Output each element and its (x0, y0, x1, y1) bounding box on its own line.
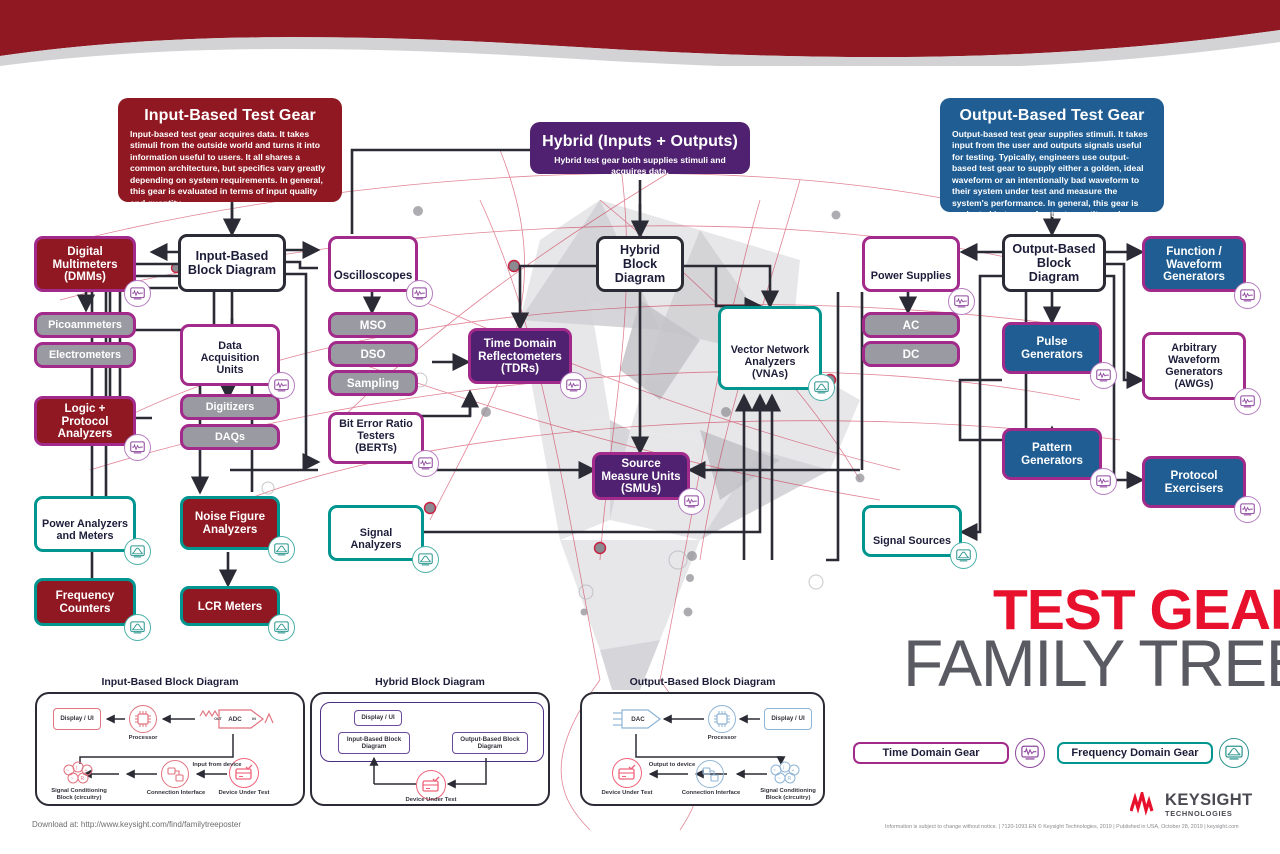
node-picoammeters[interactable]: Picoammeters (34, 312, 136, 338)
time-domain-badge (124, 280, 151, 307)
frequency-domain-badge (124, 614, 151, 641)
logo-line1: KEYSIGHT (1165, 792, 1253, 809)
panel-output-title: Output-Based Block Diagram (580, 676, 825, 688)
time-domain-icon (1015, 738, 1045, 768)
frequency-domain-badge (808, 374, 835, 401)
frequency-domain-badge (124, 538, 151, 565)
svg-text:R: R (788, 776, 792, 782)
panel-input-adc-out: OUT (213, 717, 223, 721)
panel-output-signal-conditioning-label: Signal Conditioning Block (circuitry) (752, 788, 824, 803)
time-domain-badge (560, 372, 587, 399)
panel-hybrid-dut-label: Device Under Test (402, 797, 460, 804)
node-power-analyzers-and-meters[interactable]: Power Analyzers and Meters (34, 496, 136, 552)
node-berts[interactable]: Bit Error Ratio Testers (BERTs) (328, 412, 424, 464)
svg-text:~: ~ (778, 776, 781, 782)
node-function-waveform-generators[interactable]: Function / Waveform Generators (1142, 236, 1246, 292)
time-domain-badge (1234, 282, 1261, 309)
frequency-domain-badge (268, 536, 295, 563)
poster-title-line2: FAMILY TREE (903, 630, 1280, 696)
panel-output-connection-label: Connection Interface (680, 790, 742, 797)
time-domain-badge (678, 488, 705, 515)
time-domain-badge (1234, 496, 1261, 523)
panel-input-connection-icon (161, 760, 189, 788)
panel-input-connection-label: Connection Interface (145, 790, 207, 797)
node-pulse-generators[interactable]: Pulse Generators (1002, 322, 1102, 374)
svg-text:~: ~ (71, 776, 74, 782)
poster-canvas: Input-Based Test Gear Input-based test g… (0, 0, 1280, 854)
node-vnas[interactable]: Vector Network Analyzers (VNAs) (718, 306, 822, 390)
time-domain-badge (948, 288, 975, 315)
node-protocol-exercisers[interactable]: Protocol Exercisers (1142, 456, 1246, 508)
node-electrometers[interactable]: Electrometers (34, 342, 136, 368)
node-dc[interactable]: DC (862, 341, 960, 367)
intro-output-body: Output-based test gear supplies stimuli.… (952, 129, 1152, 232)
node-frequency-counters[interactable]: Frequency Counters (34, 578, 136, 626)
panel-input-dut-label: Device Under Test (215, 790, 273, 797)
time-domain-badge (1090, 468, 1117, 495)
node-smus[interactable]: Source Measure Units (SMUs) (592, 452, 690, 500)
svg-text:+: + (85, 768, 88, 774)
svg-text:I: I (76, 766, 77, 772)
panel-output-dut-icon (612, 758, 642, 788)
panel-input-adc-label: ADC (222, 716, 248, 724)
node-data-acquisition-units[interactable]: Data Acquisition Units (180, 324, 280, 386)
node-output-based-block-diagram[interactable]: Output-Based Block Diagram (1002, 234, 1106, 292)
node-signal-sources[interactable]: Signal Sources (862, 505, 962, 557)
node-digitizers[interactable]: Digitizers (180, 394, 280, 420)
node-hybrid-block-diagram[interactable]: Hybrid Block Diagram (596, 236, 684, 292)
logo-line2: TECHNOLOGIES (1165, 810, 1253, 817)
time-domain-badge (412, 450, 439, 477)
panel-hybrid-dut-icon (416, 770, 446, 800)
time-domain-badge (1234, 388, 1261, 415)
frequency-domain-icon (1219, 738, 1249, 768)
svg-text:+: + (792, 768, 795, 774)
intro-hybrid-title: Hybrid (Inputs + Outputs) (542, 133, 738, 151)
intro-input-body: Input-based test gear acquires data. It … (130, 129, 330, 209)
panel-output-signal-conditioning-icon: ~I+ ~R (768, 760, 802, 788)
intro-hybrid-body: Hybrid test gear both supplies stimuli a… (542, 155, 738, 178)
node-pattern-generators[interactable]: Pattern Generators (1002, 428, 1102, 480)
panel-output-based-block-diagram: Display / UI Processor DAC Connection In… (580, 692, 825, 806)
panel-input-based-block-diagram: Display / UI Processor (35, 692, 305, 806)
panel-input-title: Input-Based Block Diagram (35, 676, 305, 688)
keysight-mark (1130, 792, 1160, 816)
svg-text:I: I (783, 766, 784, 772)
node-ac[interactable]: AC (862, 312, 960, 338)
node-sampling[interactable]: Sampling (328, 370, 418, 396)
intro-hybrid: Hybrid (Inputs + Outputs) Hybrid test ge… (530, 122, 750, 174)
time-domain-badge (124, 434, 151, 461)
panel-hybrid-block-diagram: Display / UI Input-Based Block Diagram O… (310, 692, 550, 806)
panel-input-signal-conditioning-label: Signal Conditioning Block (circuitry) (43, 788, 115, 803)
frequency-domain-badge (412, 546, 439, 573)
node-noise-figure-analyzers[interactable]: Noise Figure Analyzers (180, 496, 280, 550)
keysight-logo: KEYSIGHT TECHNOLOGIES (1130, 792, 1253, 817)
legend-time-label: Time Domain Gear (883, 747, 980, 759)
legal-notice: Information is subject to change without… (885, 824, 1239, 830)
node-mso[interactable]: MSO (328, 312, 418, 338)
panel-input-flow-label: Input from device (189, 762, 245, 769)
node-daqs[interactable]: DAQs (180, 424, 280, 450)
intro-output-title: Output-Based Test Gear (952, 107, 1152, 125)
panel-output-dut-label: Device Under Test (598, 790, 656, 797)
node-signal-analyzers[interactable]: Signal Analyzers (328, 505, 424, 561)
keysight-wordmark: KEYSIGHT TECHNOLOGIES (1165, 792, 1253, 817)
node-awgs[interactable]: Arbitrary Waveform Generators (AWGs) (1142, 332, 1246, 400)
panel-output-connection-icon (696, 760, 724, 788)
time-domain-badge (406, 280, 433, 307)
panel-output-flow-label: Output to device (644, 762, 700, 769)
intro-input-based: Input-Based Test Gear Input-based test g… (118, 98, 342, 202)
panel-input-signal-conditioning-icon: ~I+ ~R (61, 760, 95, 788)
legend-frequency-domain-gear[interactable]: Frequency Domain Gear (1057, 742, 1213, 764)
legend-freq-label: Frequency Domain Gear (1071, 747, 1198, 759)
node-power-supplies[interactable]: Power Supplies (862, 236, 960, 292)
panel-input-adc-in: IN (249, 717, 259, 721)
time-domain-badge (268, 372, 295, 399)
panel-input-processor-label: Processor (115, 735, 171, 742)
node-logic-protocol-analyzers[interactable]: Logic + Protocol Analyzers (34, 396, 136, 446)
node-dso[interactable]: DSO (328, 341, 418, 367)
frequency-domain-badge (268, 614, 295, 641)
node-input-based-block-diagram[interactable]: Input-Based Block Diagram (178, 234, 286, 292)
download-note[interactable]: Download at: http://www.keysight.com/fin… (32, 820, 241, 829)
panel-output-processor-label: Processor (694, 735, 750, 742)
panel-output-dac-label: DAC (626, 716, 650, 724)
panel-hybrid-title: Hybrid Block Diagram (310, 676, 550, 688)
svg-text:R: R (81, 776, 85, 782)
svg-text:~: ~ (66, 768, 69, 774)
legend-time-domain-gear[interactable]: Time Domain Gear (853, 742, 1009, 764)
svg-text:~: ~ (773, 768, 776, 774)
node-lcr-meters[interactable]: LCR Meters (180, 586, 280, 626)
node-dmms[interactable]: Digital Multimeters (DMMs) (34, 236, 136, 292)
frequency-domain-badge (950, 542, 977, 569)
intro-output-based: Output-Based Test Gear Output-based test… (940, 98, 1164, 212)
node-tdrs[interactable]: Time Domain Reflectometers (TDRs) (468, 328, 572, 384)
intro-input-title: Input-Based Test Gear (130, 107, 330, 125)
node-oscilloscopes[interactable]: Oscilloscopes (328, 236, 418, 292)
time-domain-badge (1090, 362, 1117, 389)
